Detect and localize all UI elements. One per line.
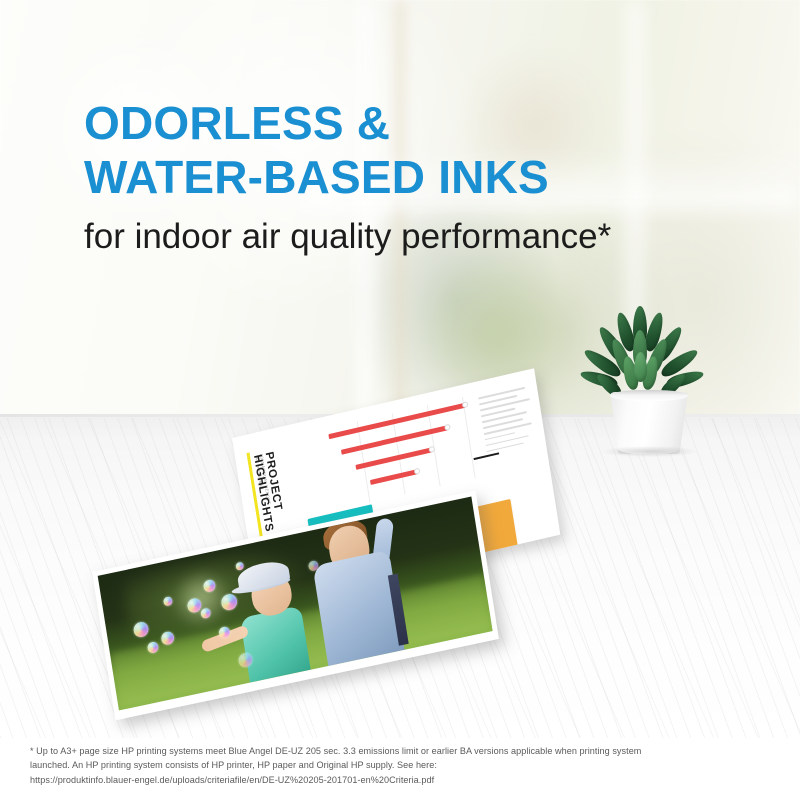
succulent-plant [593,308,703,448]
page-subtitle: for indoor air quality performance* [84,216,764,258]
marketing-banner: ODORLESS & WATER-BASED INKS for indoor a… [0,0,800,800]
window-frame-b [392,0,408,420]
page-title: ODORLESS & WATER-BASED INKS [84,96,744,204]
brochure-bar-chart [327,395,486,508]
footnote-url: https://produktinfo.blauer-engel.de/uplo… [30,773,772,787]
chart-bar [370,469,417,484]
footnote: * Up to A3+ page size HP printing system… [30,744,772,787]
footnote-line-2: launched. An HP printing system consists… [30,758,772,772]
adult-body [312,550,404,668]
footnote-line-1: * Up to A3+ page size HP printing system… [30,744,772,758]
window-frame-a [352,0,378,420]
child-body [240,605,311,682]
plant-pot [610,392,688,454]
plant-pot-rim [610,390,688,401]
plant-shadow [601,446,697,457]
chart-bar [355,447,432,469]
